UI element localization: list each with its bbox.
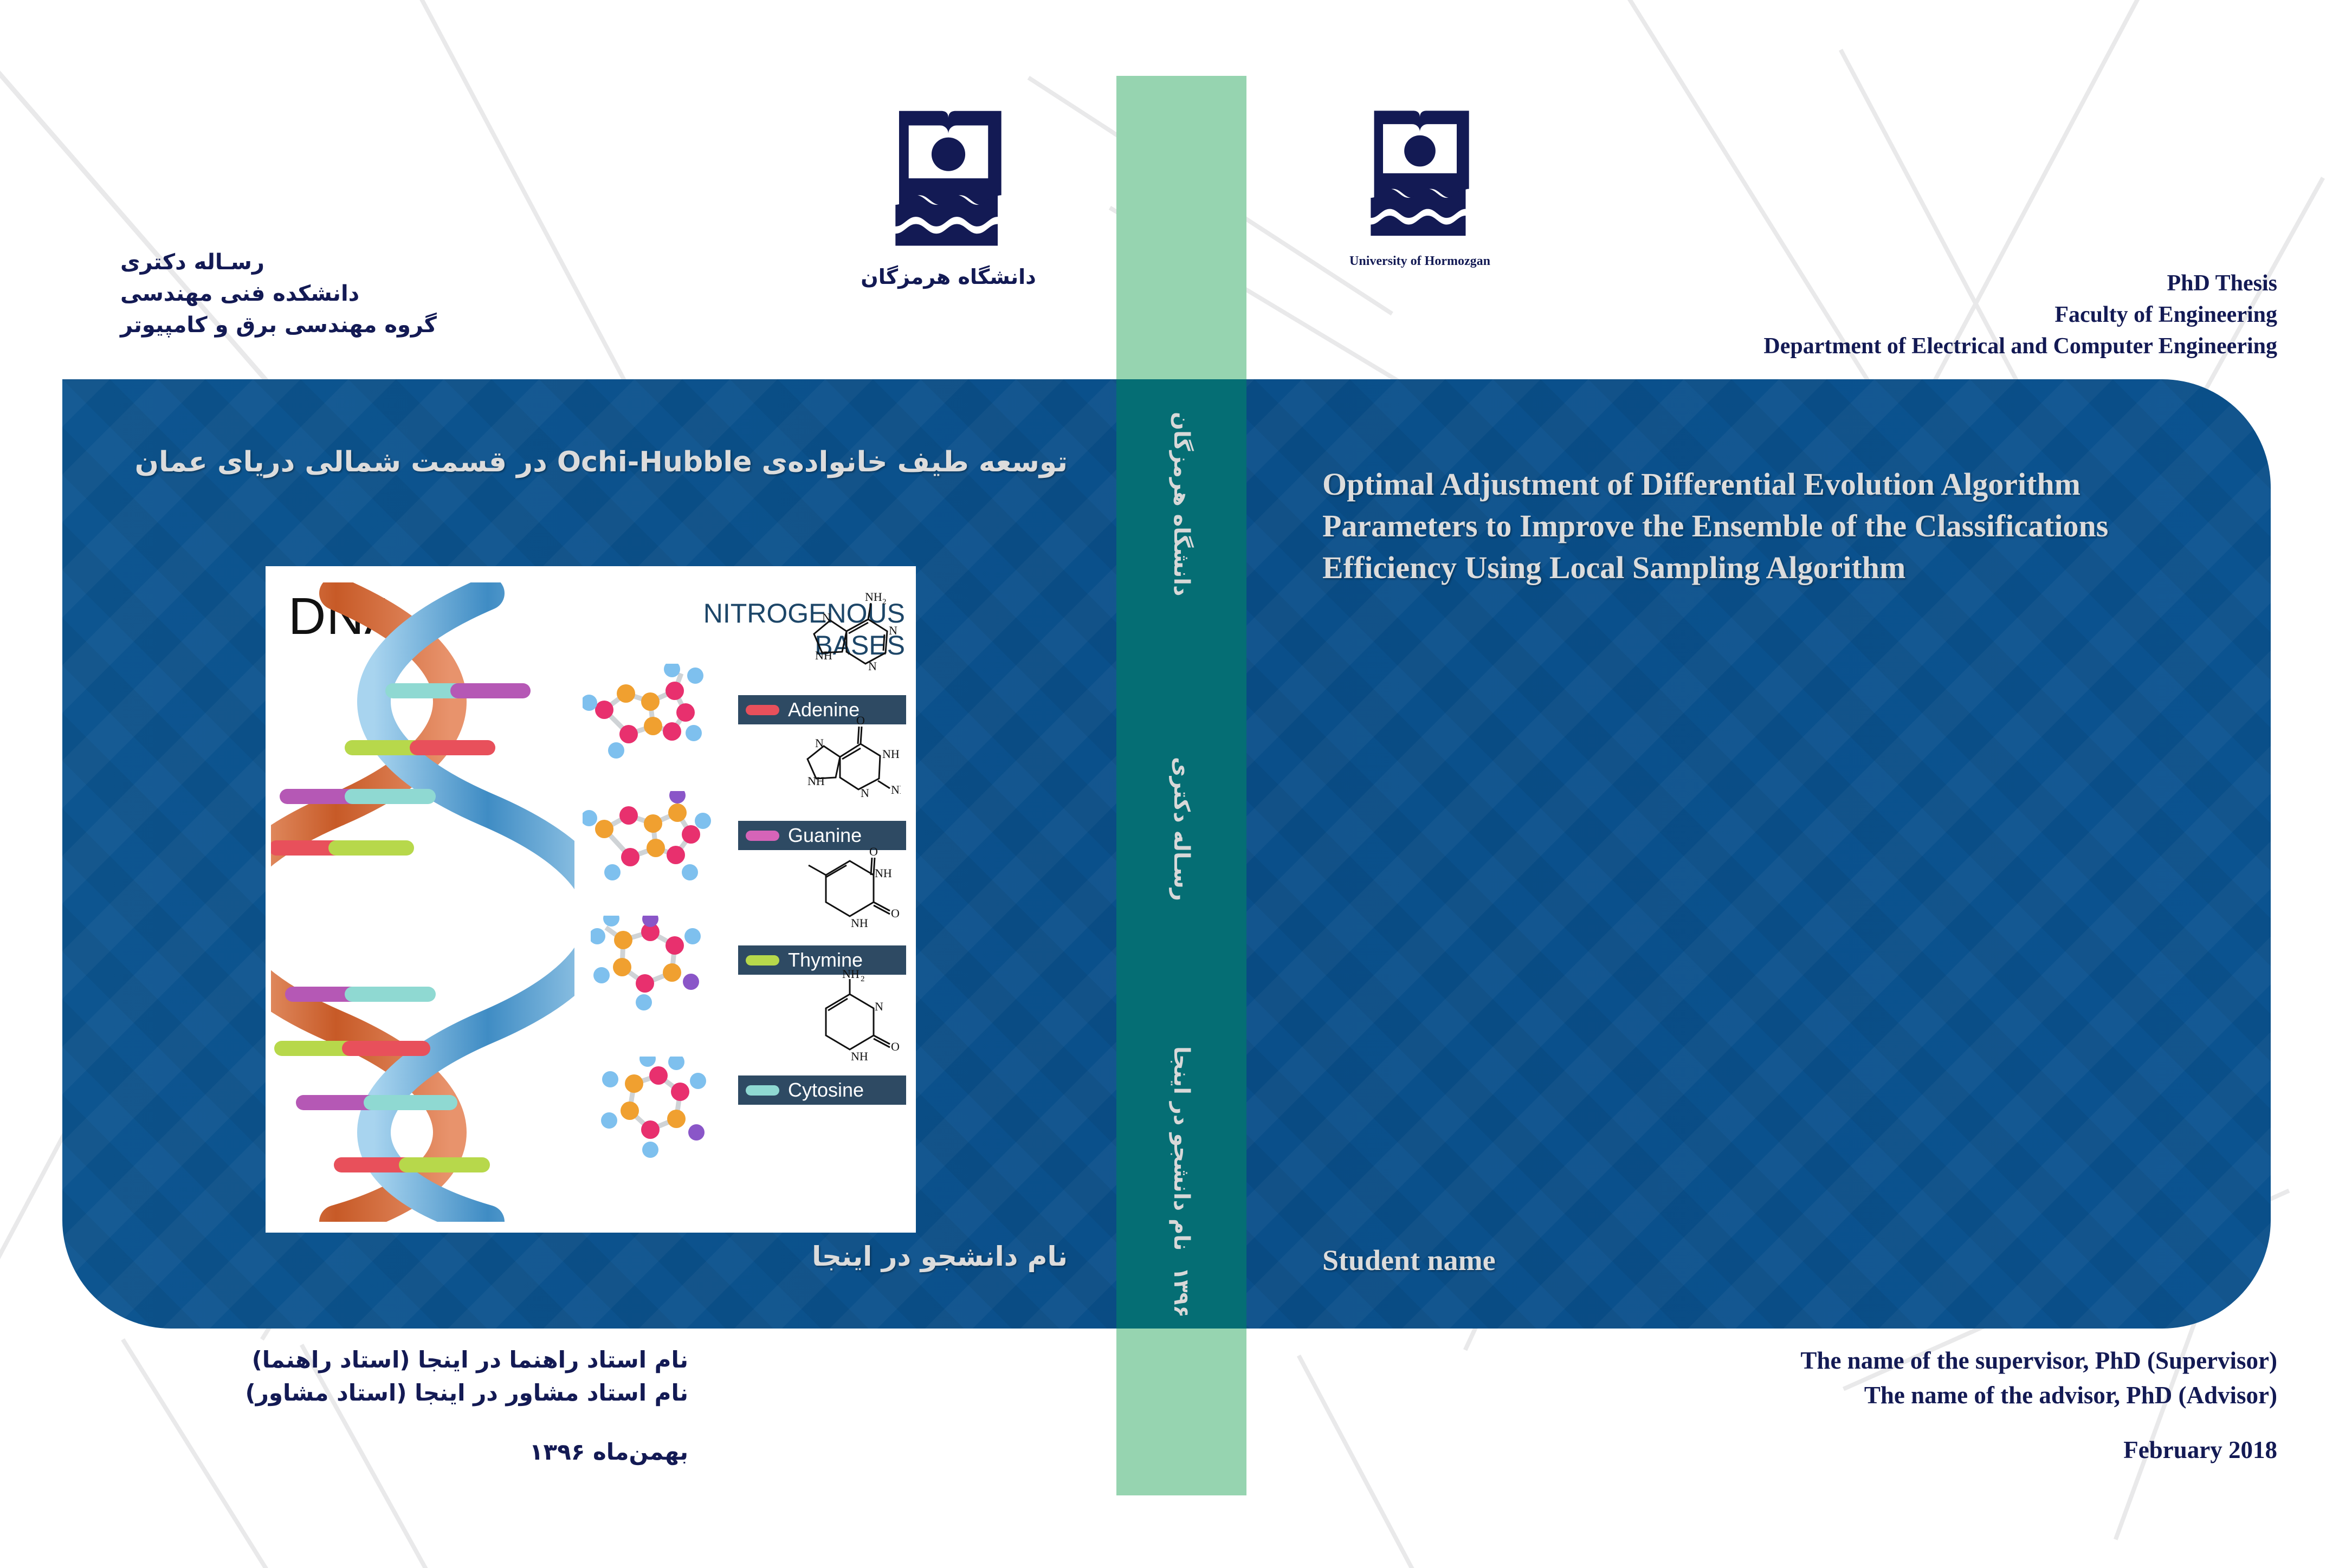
back-cover-advisors-block: نام استاد راهنما در اینجا (استاد راهنما)… [92,1344,688,1410]
svg-text:O: O [856,714,865,727]
adenine-structure-icon: NNH NN NH2 [792,588,901,691]
hormozgan-logo-icon [888,108,1009,258]
dna-double-helix-icon [271,582,574,1222]
cytosine-molecule-model-icon [596,1057,713,1159]
front-cover-advisor: The name of the advisor, PhD (Advisor) [1464,1378,2277,1413]
spine-degree-text: رسـاله دکتری [1116,748,1246,910]
base-color-swatch-thymine [746,955,779,966]
front-cover-student-name: Student name [1322,1243,1496,1277]
dna-illustration: DNA NITROGENOUS BASES [266,566,916,1233]
svg-text:N: N [815,736,824,750]
svg-text:NH: NH [865,590,882,604]
adenine-molecule-model-icon [583,664,707,761]
persian-header-line-1: رسـاله دکتری [120,247,456,278]
svg-text:O: O [891,1040,900,1053]
svg-text:N: N [889,624,897,637]
svg-text:NH: NH [882,747,900,761]
spine-year-text: ۱۳۹۶ [1116,1257,1246,1327]
front-cover-title-block: Optimal Adjustment of Differential Evolu… [1322,463,2195,588]
university-logo-english: University of Hormozgan [1322,108,1517,269]
spine-student-text: نام دانشجو در اینجا [1116,1046,1246,1252]
base-label-cytosine: Cytosine [738,1075,906,1105]
svg-text:N: N [868,659,877,673]
english-header-block: PhD Thesis Faculty of Engineering Depart… [1464,268,2277,362]
base-name-cytosine: Cytosine [788,1079,864,1102]
university-logo-english-caption: University of Hormozgan [1322,254,1517,269]
svg-text:O: O [891,906,900,920]
persian-header-block: رسـاله دکتری دانشکده فنی مهندسی گروه مهن… [120,247,456,341]
university-logo-persian-caption: دانشگاه هرمزگان [845,265,1051,289]
svg-text:2: 2 [861,975,865,983]
svg-text:NH: NH [851,916,868,930]
hormozgan-logo-icon [1364,108,1476,247]
back-cover-student-name: نام دانشجو در اینجا [98,1241,1068,1272]
svg-text:O: O [869,845,878,858]
front-cover-title-line-2: Parameters to Improve the Ensemble of th… [1322,505,2195,547]
spine-university-text: دانشگاه هرمزگان [1116,417,1246,596]
svg-text:N: N [861,786,869,800]
back-cover-date: بهمن‌ماه ۱۳۹۶ [92,1439,688,1465]
svg-text:NH: NH [815,649,832,662]
svg-text:NH: NH [891,783,901,796]
english-header-line-1: PhD Thesis [1464,268,2277,300]
persian-header-line-3: گروه مهندسی برق و کامپیوتر [120,309,456,341]
book-cover-page: رسـاله دکتری دانشکده فنی مهندسی گروه مهن… [0,0,2326,1568]
svg-text:NH: NH [807,774,825,788]
svg-text:2: 2 [882,598,887,606]
university-logo-persian: دانشگاه هرمزگان [845,108,1051,289]
base-color-swatch-adenine [746,705,779,715]
front-cover-supervisor: The name of the supervisor, PhD (Supervi… [1464,1344,2277,1378]
svg-text:NH: NH [851,1049,868,1063]
front-cover-title-line-1: Optimal Adjustment of Differential Evolu… [1322,463,2195,505]
english-header-line-3: Department of Electrical and Computer En… [1464,331,2277,362]
svg-text:N: N [875,1000,883,1013]
persian-header-line-2: دانشکده فنی مهندسی [120,278,456,309]
guanine-molecule-model-icon [583,791,713,886]
base-color-swatch-cytosine [746,1085,779,1096]
svg-text:N: N [822,611,831,624]
svg-text:NH: NH [842,969,860,981]
guanine-structure-icon: NNH NHN ONH2 [787,712,901,817]
base-color-swatch-guanine [746,831,779,841]
svg-text:NH: NH [875,866,892,880]
back-cover-advisor: نام استاد مشاور در اینجا (استاد مشاور) [92,1377,688,1410]
front-cover-date: February 2018 [1464,1436,2277,1464]
back-cover-title: توسعه طیف خانواده‌ی Ochi-Hubble در قسمت … [98,444,1068,481]
cytosine-structure-icon: NNH NH2 O [792,969,901,1071]
base-entry-cytosine: NNH NH2 O Cytosine [738,1075,906,1105]
thymine-molecule-model-icon [591,916,713,1010]
front-cover-advisors-block: The name of the supervisor, PhD (Supervi… [1464,1344,2277,1413]
english-header-line-2: Faculty of Engineering [1464,300,2277,331]
thymine-structure-icon: NHNH OO [792,841,901,942]
base-name-thymine: Thymine [788,949,863,971]
front-cover-title-line-3: Efficiency Using Local Sampling Algorith… [1322,547,2195,588]
back-cover-supervisor: نام استاد راهنما در اینجا (استاد راهنما) [92,1344,688,1377]
